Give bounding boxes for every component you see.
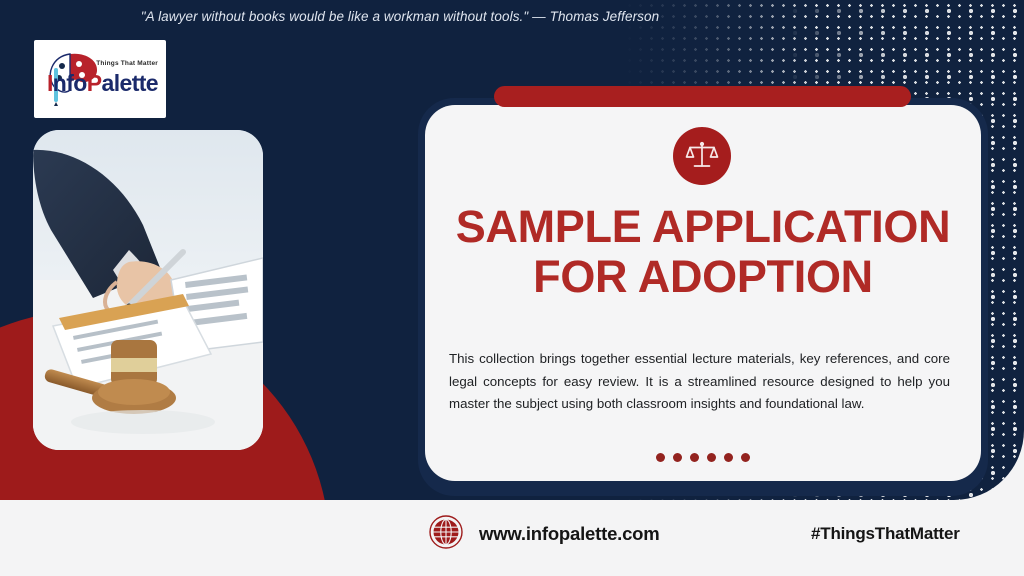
header-quote: "A lawyer without books would be like a … bbox=[0, 9, 800, 24]
decorative-dot bbox=[690, 453, 699, 462]
logo-inner: Things That Matter InfoPalette bbox=[38, 46, 162, 112]
website-url[interactable]: www.infopalette.com bbox=[479, 523, 660, 545]
page-title-line-2: FOR ADOPTION bbox=[425, 252, 981, 302]
decorative-dot bbox=[724, 453, 733, 462]
red-accent-bar bbox=[494, 86, 911, 107]
scales-icon-glyph bbox=[685, 139, 719, 173]
logo-wordmark-p: P bbox=[87, 70, 102, 96]
globe-icon-glyph bbox=[429, 515, 463, 549]
decorative-dot bbox=[673, 453, 682, 462]
page-title-line-1: SAMPLE APPLICATION bbox=[425, 202, 981, 252]
page-title: SAMPLE APPLICATION FOR ADOPTION bbox=[425, 202, 981, 302]
slide-canvas: "A lawyer without books would be like a … bbox=[0, 0, 1024, 576]
brand-logo[interactable]: Things That Matter InfoPalette bbox=[34, 40, 166, 118]
scales-of-justice-icon bbox=[673, 127, 731, 185]
logo-wordmark: InfoPalette bbox=[47, 70, 158, 97]
hashtag-label: #ThingsThatMatter bbox=[811, 524, 960, 544]
logo-wordmark-alette: alette bbox=[102, 70, 158, 96]
decorative-dot bbox=[656, 453, 665, 462]
legal-photo-card bbox=[33, 130, 263, 450]
decorative-dot-row bbox=[425, 453, 981, 462]
decorative-dot bbox=[741, 453, 750, 462]
globe-icon bbox=[429, 515, 463, 549]
decorative-dot bbox=[707, 453, 716, 462]
logo-tagline: Things That Matter bbox=[96, 60, 158, 67]
photo-illustration bbox=[33, 130, 263, 450]
card-body-text: This collection brings together essentia… bbox=[449, 348, 950, 416]
logo-wordmark-nfo: nfo bbox=[53, 70, 87, 96]
